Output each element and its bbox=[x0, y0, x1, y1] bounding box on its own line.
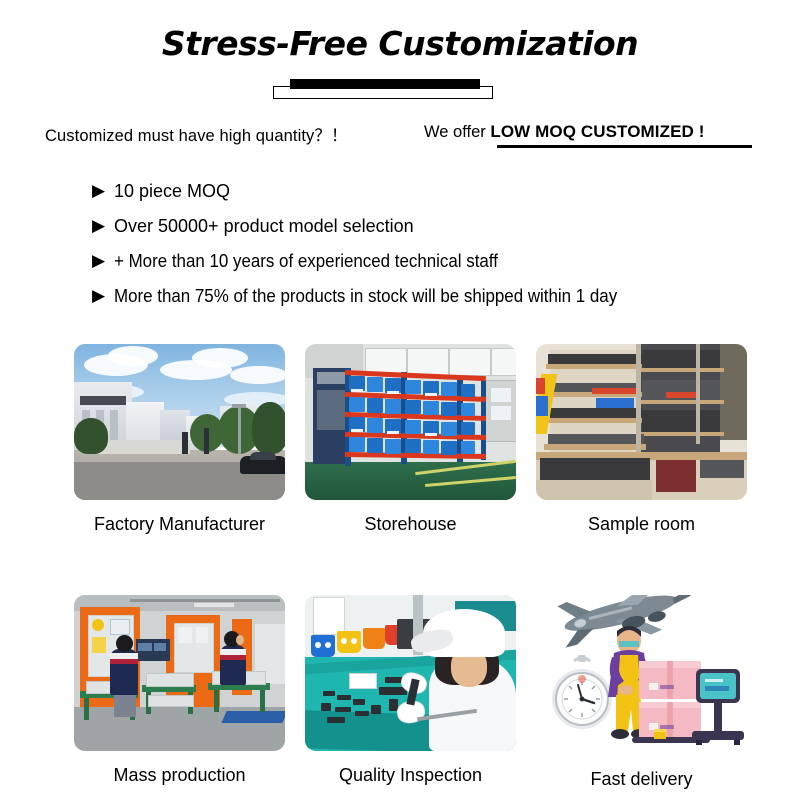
gallery-cell-sample-room: Sample room bbox=[536, 344, 747, 535]
subheadline-question: Customized must have high quantity？！ bbox=[45, 122, 348, 146]
gallery-caption: Factory Manufacturer bbox=[74, 514, 285, 535]
list-item-label: More than 75% of the products in stock w… bbox=[114, 286, 617, 307]
gallery-caption: Mass production bbox=[74, 765, 285, 786]
sample-room-shelves-photo bbox=[536, 344, 747, 500]
subheadline-answer-prefix: We offer bbox=[424, 123, 490, 141]
production-line-photo bbox=[74, 595, 285, 751]
list-item: ▶ More than 75% of the products in stock… bbox=[92, 279, 792, 314]
list-item-label: + More than 10 years of experienced tech… bbox=[114, 251, 498, 272]
triangle-bullet-icon: ▶ bbox=[92, 217, 114, 234]
qc-worker-photo bbox=[305, 595, 516, 751]
subheadline-answer: We offer LOW MOQ CUSTOMIZED ! bbox=[424, 122, 705, 142]
warehouse-shelving-photo bbox=[305, 344, 516, 500]
promo-banner: Stress-Free Customization Customized mus… bbox=[0, 0, 800, 800]
gallery-caption: Sample room bbox=[536, 514, 747, 535]
gallery-cell-mass-production: Mass production bbox=[74, 595, 285, 790]
fast-delivery-illustration bbox=[536, 595, 747, 755]
triangle-bullet-icon: ▶ bbox=[92, 252, 114, 269]
triangle-bullet-icon: ▶ bbox=[92, 182, 114, 199]
small-parcel-icon bbox=[654, 729, 666, 739]
capability-gallery: Factory Manufacturer bbox=[74, 344, 734, 790]
gallery-cell-fast-delivery: Fast delivery bbox=[536, 595, 747, 790]
divider-ornament-icon bbox=[0, 78, 800, 104]
gallery-cell-factory: Factory Manufacturer bbox=[74, 344, 285, 535]
factory-exterior-photo bbox=[74, 344, 285, 500]
gallery-caption: Storehouse bbox=[305, 514, 516, 535]
list-item: ▶ 10 piece MOQ bbox=[92, 174, 792, 209]
divider-solid-bar bbox=[290, 79, 480, 89]
gallery-cell-storehouse: Storehouse bbox=[305, 344, 516, 535]
delivery-illustration-svg bbox=[536, 595, 747, 755]
answer-underline bbox=[497, 145, 752, 148]
feature-bullet-list: ▶ 10 piece MOQ ▶ Over 50000+ product mod… bbox=[92, 174, 792, 314]
gallery-caption: Quality Inspection bbox=[305, 765, 516, 786]
list-item-label: 10 piece MOQ bbox=[114, 181, 230, 202]
list-item: ▶ + More than 10 years of experienced te… bbox=[92, 244, 792, 279]
gallery-cell-quality-inspection: Quality Inspection bbox=[305, 595, 516, 790]
list-item: ▶ Over 50000+ product model selection bbox=[92, 209, 792, 244]
gallery-caption: Fast delivery bbox=[536, 769, 747, 790]
triangle-bullet-icon: ▶ bbox=[92, 287, 114, 304]
gallery-row-2: Mass production bbox=[74, 595, 734, 790]
page-title: Stress-Free Customization bbox=[0, 24, 800, 63]
subheadline-answer-strong: LOW MOQ CUSTOMIZED ! bbox=[490, 122, 704, 141]
subheadline-row: Customized must have high quantity？！ We … bbox=[0, 122, 800, 156]
gallery-row-1: Factory Manufacturer bbox=[74, 344, 734, 535]
list-item-label: Over 50000+ product model selection bbox=[114, 216, 414, 237]
